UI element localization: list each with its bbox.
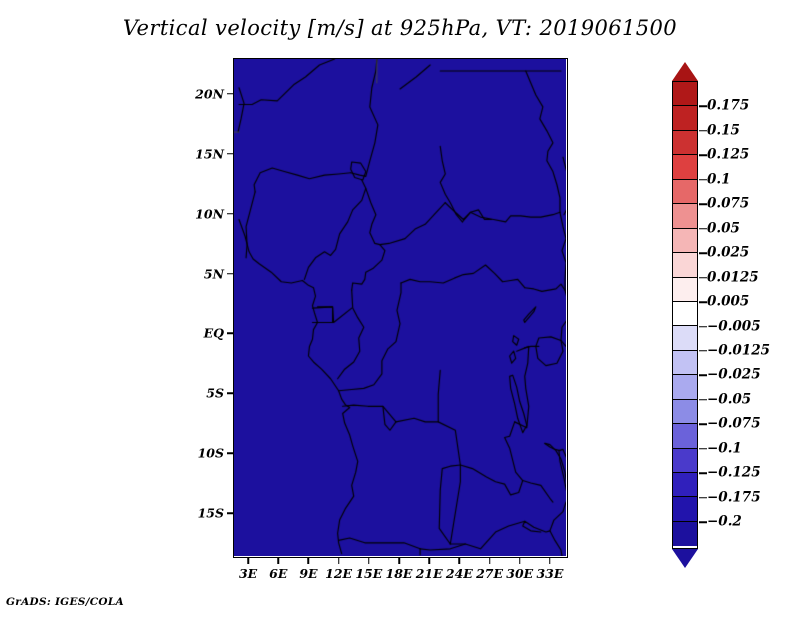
colorbar-tick-mark (699, 472, 707, 474)
colorbar-cell (673, 253, 697, 277)
colorbar-label: 0.15 (707, 123, 740, 139)
y-tick-label-15s: 15S (164, 506, 233, 521)
colorbar-tick-mark (699, 375, 707, 377)
colorbar-cell (673, 278, 697, 302)
x-tick-label-12e: 12E (325, 558, 352, 581)
colorbar-label: 0.05 (707, 220, 740, 236)
colorbar-label: −0.2 (707, 514, 742, 530)
colorbar-label: 0.175 (707, 98, 749, 114)
colorbar-label: −0.1 (707, 440, 742, 456)
colorbar-tick-mark (699, 326, 707, 328)
x-tick-label-15e: 15E (355, 558, 382, 581)
colorbar-cell (673, 155, 697, 179)
colorbar-cell (673, 302, 697, 326)
page-title: Vertical velocity [m/s] at 925hPa, VT: 2… (0, 16, 800, 40)
y-tick-label-10n: 10N (164, 206, 233, 221)
footer-credit: GrADS: IGES/COLA (6, 596, 124, 608)
map-plot-area: 20N15N10N5NEQ5S10S15S 3E6E9E12E15E18E21E… (233, 58, 568, 558)
colorbar-tick-mark (699, 301, 707, 303)
y-tick-label-15n: 15N (164, 146, 233, 161)
colorbar-label: −0.075 (707, 416, 761, 432)
colorbar-label: 0.1 (707, 171, 731, 187)
colorbar-body: 0.1750.150.1250.10.0750.050.0250.01250.0… (672, 81, 698, 549)
colorbar-cell (673, 351, 697, 375)
colorbar-tick-mark (699, 130, 707, 132)
x-tick-label-30e: 30E (506, 558, 533, 581)
colorbar-label: −0.125 (707, 465, 761, 481)
colorbar-tick-mark (699, 497, 707, 499)
colorbar-tick-mark (699, 179, 707, 181)
colorbar-tick-mark (699, 399, 707, 401)
y-tick-label-20n: 20N (164, 86, 233, 101)
x-tick-label-24e: 24E (446, 558, 473, 581)
colorbar-tick-mark (699, 448, 707, 450)
colorbar-extend-max-arrow-icon (672, 62, 698, 81)
colorbar-cell (673, 204, 697, 228)
country-borders-overlay (234, 59, 566, 556)
x-tick-label-6e: 6E (269, 558, 287, 581)
colorbar-label: 0.0125 (707, 269, 759, 285)
colorbar-label: 0.005 (707, 294, 749, 310)
colorbar-cell (673, 400, 697, 424)
x-tick-label-27e: 27E (476, 558, 503, 581)
colorbar-label: −0.05 (707, 392, 751, 408)
x-tick-label-9e: 9E (299, 558, 317, 581)
colorbar-tick-mark (699, 106, 707, 108)
colorbar-label: 0.075 (707, 196, 749, 212)
colorbar-label: −0.175 (707, 489, 761, 505)
colorbar-tick-mark (699, 521, 707, 523)
colorbar-cell (673, 229, 697, 253)
colorbar: 0.1750.150.1250.10.0750.050.0250.01250.0… (672, 62, 698, 568)
colorbar-tick-mark (699, 204, 707, 206)
y-tick-label-10s: 10S (164, 446, 233, 461)
colorbar-cell (673, 326, 697, 350)
x-tick-label-21e: 21E (416, 558, 443, 581)
colorbar-cell (673, 82, 697, 106)
x-tick-label-3e: 3E (239, 558, 257, 581)
y-tick-label-5s: 5S (164, 386, 233, 401)
colorbar-tick-mark (699, 155, 707, 157)
colorbar-label: 0.125 (707, 147, 749, 163)
colorbar-cell (673, 131, 697, 155)
x-tick-label-18e: 18E (386, 558, 413, 581)
colorbar-extend-min-arrow-icon (672, 549, 698, 568)
grads-figure-root: Vertical velocity [m/s] at 925hPa, VT: 2… (0, 0, 800, 618)
colorbar-label: 0.025 (707, 245, 749, 261)
colorbar-cell (673, 424, 697, 448)
colorbar-cell (673, 375, 697, 399)
colorbar-cell (673, 180, 697, 204)
x-tick-label-33e: 33E (536, 558, 563, 581)
colorbar-cell (673, 522, 697, 546)
colorbar-cell (673, 473, 697, 497)
colorbar-tick-mark (699, 424, 707, 426)
colorbar-cell (673, 449, 697, 473)
colorbar-tick-mark (699, 228, 707, 230)
colorbar-tick-mark (699, 350, 707, 352)
colorbar-label: −0.025 (707, 367, 761, 383)
colorbar-cell (673, 497, 697, 521)
colorbar-label: −0.0125 (707, 343, 770, 359)
colorbar-tick-mark (699, 277, 707, 279)
colorbar-cell (673, 106, 697, 130)
y-tick-label-eq: EQ (164, 326, 233, 341)
y-tick-label-5n: 5N (164, 266, 233, 281)
plot-frame (233, 58, 568, 558)
colorbar-tick-mark (699, 252, 707, 254)
colorbar-label: −0.005 (707, 318, 761, 334)
